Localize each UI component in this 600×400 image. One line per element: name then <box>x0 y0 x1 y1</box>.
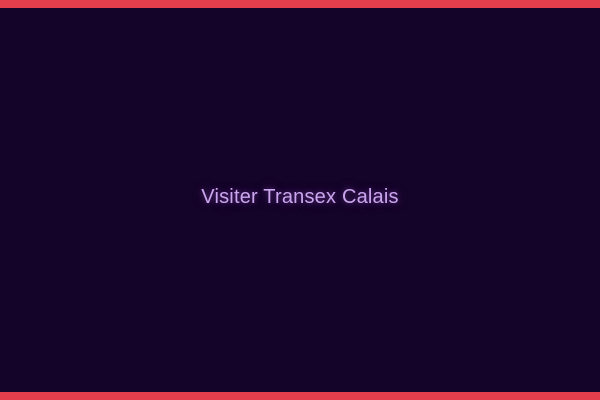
placeholder-banner: Visiter Transex Calais <box>0 0 600 400</box>
banner-content-area: Visiter Transex Calais <box>0 8 600 392</box>
bottom-accent-bar <box>0 392 600 400</box>
banner-title: Visiter Transex Calais <box>201 187 398 207</box>
top-accent-bar <box>0 0 600 8</box>
